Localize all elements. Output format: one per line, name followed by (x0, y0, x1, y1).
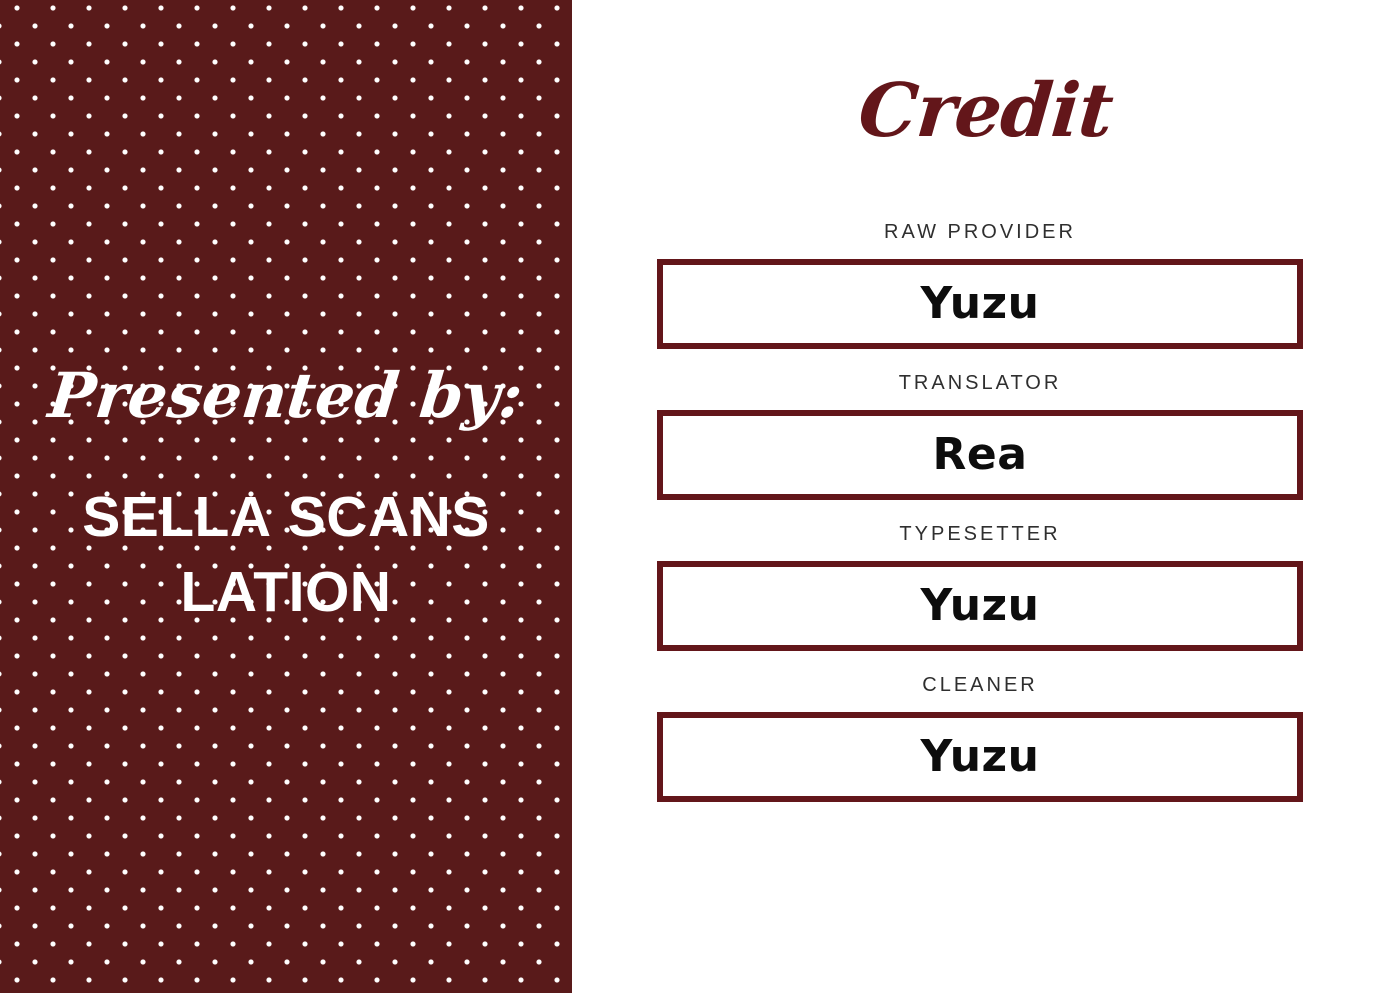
credit-box-typesetter: Yuzu (657, 561, 1303, 651)
credit-box-cleaner: Yuzu (657, 712, 1303, 802)
credit-label-raw-provider: RAW PROVIDER (657, 222, 1303, 259)
credit-entry-cleaner: CLEANER Yuzu (657, 675, 1303, 802)
credit-box-translator: Rea (657, 410, 1303, 500)
credit-label-cleaner: CLEANER (657, 675, 1303, 712)
credit-value-typesetter: Yuzu (921, 584, 1040, 628)
presented-by-panel: Presented by: SELLA SCANS LATION (0, 0, 572, 993)
credit-box-raw-provider: Yuzu (657, 259, 1303, 349)
credit-entry-typesetter: TYPESETTER Yuzu (657, 524, 1303, 651)
credit-value-translator: Rea (933, 433, 1028, 477)
credit-panel: Credit RAW PROVIDER Yuzu TRANSLATOR Rea … (572, 0, 1399, 993)
credit-label-typesetter: TYPESETTER (657, 524, 1303, 561)
credit-value-cleaner: Yuzu (921, 735, 1040, 779)
credit-list: RAW PROVIDER Yuzu TRANSLATOR Rea TYPESET… (657, 222, 1303, 826)
presented-by-heading: Presented by: (46, 363, 526, 428)
studio-name: SELLA SCANS LATION (46, 480, 526, 630)
credit-title: Credit (569, 74, 1399, 148)
presented-by-content: Presented by: SELLA SCANS LATION (0, 0, 572, 993)
credit-entry-raw-provider: RAW PROVIDER Yuzu (657, 222, 1303, 349)
credit-value-raw-provider: Yuzu (921, 282, 1040, 326)
credit-label-translator: TRANSLATOR (657, 373, 1303, 410)
credit-entry-translator: TRANSLATOR Rea (657, 373, 1303, 500)
credits-page: Presented by: SELLA SCANS LATION Credit … (0, 0, 1399, 993)
